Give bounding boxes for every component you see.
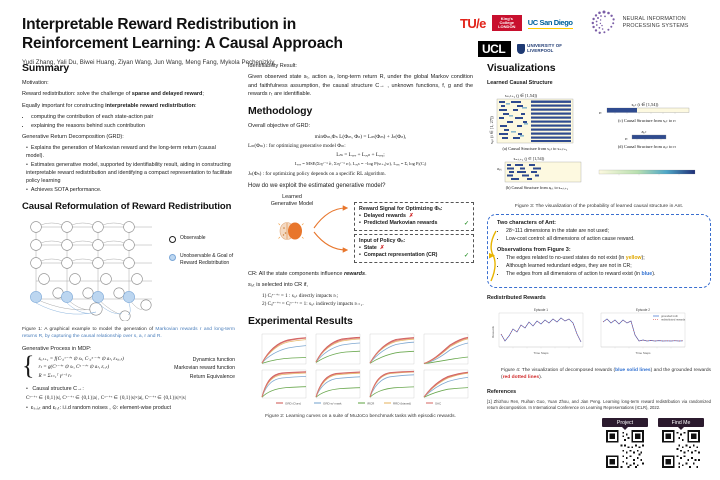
neurips-line-1: NEURAL INFORMATION	[623, 16, 686, 22]
bullet-dot: •	[359, 220, 361, 226]
equation-annotation: Return Equivalence	[190, 373, 235, 381]
svg-text:Episode 1: Episode 1	[534, 308, 548, 312]
cr-definition-line-1: CR: All the state components influence r…	[248, 270, 473, 278]
bullet-dot: •	[359, 213, 361, 219]
grd-bullets: Explains the generation of Markovian rew…	[22, 144, 235, 194]
legend-label: Observable	[180, 235, 206, 242]
structure-label: Causal structure C→:	[32, 386, 84, 392]
objective-equation: minΦₘ,Φₙ L(Φₘ, Φₙ) = Lₘ(Φₘ) + Jₙ(Φₙ),	[248, 134, 473, 140]
svg-text:Time Steps: Time Steps	[635, 351, 651, 355]
qr-project[interactable]: Project	[602, 418, 648, 468]
section-experiments-heading: Experimental Results	[248, 315, 473, 327]
learned-causal-structure-subheading: Learned Causal Structure	[487, 79, 711, 87]
liverpool-wordmark: UNIVERSITY OF LIVERPOOL	[527, 44, 562, 53]
figure-1-caption: Figure 1: A graphical example to model t…	[22, 326, 235, 340]
section-visualizations-heading: Visualizations	[487, 62, 711, 74]
svg-text:redistributed rewards: redistributed rewards	[661, 317, 686, 321]
identifiability-text: Given observed state sₜ, action aₜ, long…	[248, 73, 473, 98]
equation-annotation: Markovian reward function	[174, 364, 235, 372]
cross-icon: ✗	[409, 213, 414, 219]
ucsd-logo: UC San Diego	[528, 18, 573, 29]
motivation-line-1: Reward redistribution: solve the challen…	[22, 90, 235, 98]
mdp-equations: sᵢ,ₜ₊₁ = f(C·,ᵢˢ⁻⁺ˢ ⊙ sₜ, C·,ᵢᵃ⁻⁺ˢ ⊙ aₜ,…	[38, 356, 235, 380]
logo-bar: TU/e King's College LONDON UC San Diego	[460, 8, 710, 60]
svg-text:(d) Causal Structure from aᵢ,ₜ: (d) Causal Structure from aᵢ,ₜ to rₜ	[618, 144, 676, 150]
cr-condition-2: 2) Cᵢⱼˢ⁻⁺ˢ = Cⱼˢ⁻⁺ʳ = 1: sᵢ,ₜ indirectly…	[248, 301, 473, 307]
list-item: Low-cost control: all dimensions of acti…	[506, 236, 703, 244]
qr-findme[interactable]: Find Me	[658, 418, 704, 468]
policy-objective-label: Jₙ(Φₙ) : for optimizing policy depends o…	[248, 171, 473, 177]
lm-label: Lₘ(Φₘ) : for optimizing generative model…	[248, 143, 473, 149]
svg-text:Episode 2: Episode 2	[636, 308, 650, 312]
qr-project-code-icon[interactable]	[606, 430, 644, 468]
motivation-line-2-a: Equally important for constructing	[22, 103, 105, 109]
callout-list-2: The edges related to no-used states do n…	[497, 255, 703, 278]
list-item: Causal structure C→: Cˢ⁻⁺ʳ ∈ {0,1}|s|, C…	[26, 385, 235, 403]
reward-signal-box: Reward Signal for Optimizing Φₙ: • Delay…	[354, 202, 474, 232]
list-item: Explains the generation of Markovian rew…	[26, 144, 235, 160]
lm-equation-detail: Lᵣₑᵥ = MSE(Σₜγᵗ⁻¹ r̂ₜ, Σₜγᵗ⁻¹ rₜ), Lₔᵧₙ …	[248, 161, 473, 167]
lm-equation: Lₘ = Lᵣₑᵥ + Lₔᵧₙ + Lᵣₑᵧ;	[248, 152, 473, 158]
svg-text:RRD (biased): RRD (biased)	[393, 401, 411, 405]
neurips-swirl-icon	[589, 8, 619, 38]
check-icon: ✓	[464, 220, 469, 227]
flow-label-line-2: Generative Model	[271, 201, 314, 207]
logo-row-bottom: UCL UNIVERSITY OF LIVERPOOL	[460, 41, 710, 57]
svg-text:SAC: SAC	[435, 401, 442, 405]
grd-label: Generative Return Decomposition (GRD):	[22, 133, 235, 141]
svg-text:GRD (Ours): GRD (Ours)	[285, 401, 301, 405]
policy-input-title: Input of Policy Φₙ:	[359, 238, 469, 244]
section-methodology-heading: Methodology	[248, 105, 473, 117]
cr-condition-1: 1) Cᵢˢ⁻⁺ʳ = 1 : sᵢ,ₜ directly impacts rₜ…	[248, 293, 473, 299]
item-text-b: ).	[652, 271, 655, 277]
item-label: Predicted Markovian rewards	[364, 220, 438, 226]
column-middle: Identifiability Result: Given observed s…	[248, 62, 473, 420]
list-item: The edges from all dimensions of action …	[506, 271, 703, 279]
title-line-1: Interpretable Reward Redistribution in	[22, 16, 492, 35]
caption-part-c: ).	[539, 375, 542, 380]
methodology-flow-diagram: Learned Generative Model	[248, 194, 473, 268]
svg-text:s₌,ₜ₊₁ (j ∈ [1,54]): s₌,ₜ₊₁ (j ∈ [1,54])	[514, 156, 545, 162]
figure-2-caption: Figure 2: Learning curves on a suite of …	[248, 413, 473, 420]
svg-text:(a) Causal Structure from sᵢ,ₜ: (a) Causal Structure from sᵢ,ₜ to s₌,ₜ₊₁	[502, 146, 568, 152]
motivation-line-1-c: ;	[202, 91, 204, 97]
motivation-line-1-b: sparse and delayed reward	[132, 91, 203, 97]
motivation-line-2-c: :	[195, 103, 197, 109]
kcl-line-3: LONDON	[498, 24, 515, 29]
equation-text: rₜ = g(Cˢ⁻⁺ʳ ⊙ sₜ, Cᵃ⁻⁺ʳ ⊙ aₜ, εᵣ,ₜ)	[38, 364, 109, 372]
list-item: Achieves SOTA performance.	[26, 186, 235, 194]
figure-4-reward-curves: Episode 1 Rewards Time Steps Episode	[487, 306, 711, 364]
cr-text-a: CR: All the state components influence	[248, 271, 344, 277]
figure-2-learning-curves: GRD (Ours) GRD w/ mask IRCR RRD (biased)…	[248, 332, 473, 410]
list-item: 28~111 dimensions in the state are not u…	[506, 228, 703, 236]
swoosh-arrow-icon	[487, 229, 499, 285]
caption-red: red dotted lines	[503, 375, 539, 380]
motivation-line-1-a: Reward redistribution: solve the challen…	[22, 91, 132, 97]
item-text-a: The edges related to no-used states do n…	[506, 255, 626, 261]
item-highlight: yellow	[626, 255, 642, 261]
motivation-bullets: computing the contribution of each state…	[22, 113, 235, 130]
item-label: Compact representation (CR)	[364, 252, 438, 258]
equation-text: R = Σₜ₌₁ᵀ γᵗ⁻¹ rₜ	[38, 373, 71, 381]
logo-row-top: TU/e King's College LONDON UC San Diego	[460, 8, 710, 38]
list-item: computing the contribution of each state…	[31, 113, 235, 121]
list-item: The edges related to no-used states do n…	[506, 255, 703, 263]
policy-input-item: • State ✗	[359, 245, 469, 251]
policy-input-box: Input of Policy Φₙ: • State ✗ • Compact …	[354, 234, 474, 264]
flow-arrows-icon	[310, 198, 356, 264]
figure-4-caption: Figure 4: The visualization of decompose…	[487, 367, 711, 381]
qr-code-area: Project	[602, 418, 704, 468]
equation-row: rₜ = g(Cˢ⁻⁺ʳ ⊙ sₜ, Cᵃ⁻⁺ʳ ⊙ aₜ, εᵣ,ₜ) Mar…	[38, 364, 235, 372]
caption-highlight: Markovian rewards r	[155, 327, 201, 332]
left-brace-icon: {	[22, 356, 34, 380]
svg-text:sᵢ,ₜ (i ∈ [1, 27]): sᵢ,ₜ (i ∈ [1, 27])	[489, 116, 495, 144]
page-title: Interpretable Reward Redistribution in R…	[22, 16, 492, 54]
cr-text-highlight: rewards	[344, 271, 365, 277]
causal-graph-svg	[22, 217, 170, 321]
poster-header: Interpretable Reward Redistribution in R…	[22, 16, 492, 66]
column-left: Summary Motivation: Reward redistributio…	[22, 62, 235, 416]
observable-circle-icon	[169, 236, 176, 243]
structure-equation: Cˢ⁻⁺ʳ ∈ {0,1}|s|, Cᵃ⁻⁺ʳ ∈ {0,1}|a| , Cᵃ⁻…	[26, 395, 235, 403]
svg-text:aᵢ,ₜ: aᵢ,ₜ	[641, 129, 646, 135]
reward-curves-svg: Episode 1 Rewards Time Steps Episode	[487, 306, 697, 362]
heatmaps-svg: s₌,ₜ₊₁ (j ∈ [1,54]) sᵢ,ₜ (i ∈ [1, 27])	[487, 90, 711, 200]
liverpool-shield-icon	[517, 44, 525, 54]
list-item: Although learned redundant edges, they a…	[506, 263, 703, 271]
callout-title-2: Observations from Figure 3:	[497, 247, 703, 253]
item-text-a: The edges from all dimensions of action …	[506, 271, 642, 277]
learning-curves-svg: GRD (Ours) GRD w/ mask IRCR RRD (biased)…	[248, 332, 473, 410]
objective-label: Overall objective of GRD:	[248, 122, 473, 130]
svg-text:rₜ: rₜ	[599, 110, 602, 115]
svg-text:GRD w/ mask: GRD w/ mask	[323, 401, 342, 405]
figure-1-legend: Observable Unobservable & Goal of Reward…	[169, 235, 235, 277]
svg-text:(c) Causal Structure from sᵢ,ₜ: (c) Causal Structure from sᵢ,ₜ to rₜ	[618, 118, 676, 124]
list-item: explaining the reasons behind such contr…	[31, 122, 235, 130]
caption-part-c: , a, r and R.	[136, 334, 162, 339]
brain-icon	[278, 220, 304, 242]
neurips-logo: NEURAL INFORMATION PROCESSING SYSTEMS	[589, 8, 689, 38]
reference-entry-1: [1] Zhizhou Ren, Ruihan Guo, Yuan Zhou, …	[487, 399, 711, 411]
motivation-label: Motivation:	[22, 79, 235, 87]
svg-text:aᵢ,ₜ: aᵢ,ₜ	[497, 166, 502, 172]
item-text-b: );	[642, 255, 645, 261]
svg-text:(b) Causal Structure from aᵢ,ₜ: (b) Causal Structure from aᵢ,ₜ to s₌,ₜ₊₁	[506, 185, 569, 191]
section-summary-heading: Summary	[22, 62, 235, 74]
section-causal-heading: Causal Reformulation of Reward Redistrib…	[22, 201, 235, 212]
reward-signal-item: • Predicted Markovian rewards ✓	[359, 220, 469, 227]
svg-text:sᵢ,ₜ (i ∈ [1,54]): sᵢ,ₜ (i ∈ [1,54])	[632, 102, 659, 108]
liverpool-line-2: LIVERPOOL	[527, 48, 553, 53]
figure-3-caption: Figure 3: The visualization of the proba…	[487, 203, 711, 210]
item-label: Delayed rewards	[364, 213, 406, 219]
item-highlight: blue	[642, 271, 653, 277]
motivation-line-2: Equally important for constructing inter…	[22, 102, 235, 110]
bullet-dot: •	[359, 245, 361, 251]
qr-findme-code-icon[interactable]	[662, 430, 700, 468]
cr-text-c: .	[365, 271, 367, 277]
qr-findme-label: Find Me	[658, 418, 704, 427]
figure-1-causal-graph: Observable Unobservable & Goal of Reward…	[22, 217, 235, 323]
caption-part-a: Figure 1: A graphical example to model t…	[22, 327, 155, 332]
references-heading: References	[487, 388, 711, 396]
legend-item-unobservable: Unobservable & Goal of Reward Redistribu…	[169, 253, 235, 267]
svg-text:Time Steps: Time Steps	[533, 351, 549, 355]
caption-part-a: Figure 4: The visualization of decompose…	[501, 368, 615, 373]
mdp-label: Generative Process in MDP:	[22, 345, 235, 353]
identifiability-label: Identifiability Result:	[248, 62, 473, 70]
svg-text:Rewards: Rewards	[491, 325, 495, 337]
causal-structure-bullets: Causal structure C→: Cˢ⁻⁺ʳ ∈ {0,1}|s|, C…	[22, 385, 235, 413]
unobservable-circle-icon	[169, 254, 176, 261]
column-right: Visualizations Learned Causal Structure …	[487, 62, 711, 411]
reward-signal-item: • Delayed rewards ✗	[359, 213, 469, 219]
callout-list-1: 28~111 dimensions in the state are not u…	[497, 228, 703, 244]
motivation-line-2-b: interpretable reward redistribution	[105, 103, 195, 109]
svg-text:s₌,ₜ₊₁ (j ∈ [1,54]): s₌,ₜ₊₁ (j ∈ [1,54])	[505, 93, 538, 99]
caption-blue: blue solid lines	[615, 368, 651, 373]
reward-signal-title: Reward Signal for Optimizing Φₙ:	[359, 206, 469, 212]
redistributed-rewards-heading: Redistributed Rewards	[487, 294, 711, 302]
neurips-line-2: PROCESSING SYSTEMS	[623, 23, 689, 29]
legend-item-observable: Observable	[169, 235, 235, 243]
kcl-logo: King's College LONDON	[492, 15, 522, 32]
figure-3-heatmaps: s₌,ₜ₊₁ (j ∈ [1,54]) sᵢ,ₜ (i ∈ [1, 27])	[487, 90, 711, 202]
svg-text:rₜ: rₜ	[625, 136, 628, 141]
observations-callout: Two characters of Ant: 28~111 dimensions…	[487, 214, 711, 288]
exploit-question: How do we exploit the estimated generati…	[248, 182, 473, 191]
legend-label: Unobservable & Goal of Reward Redistribu…	[180, 253, 235, 267]
ucl-logo: UCL	[478, 41, 511, 57]
cr-definition-line-2: sᵢ,ₜ is selected into CR if,	[248, 281, 473, 289]
equation-annotation: Dynamics function	[193, 356, 235, 364]
list-item: Estimates generative model, supported by…	[26, 161, 235, 185]
policy-input-item: • Compact representation (CR) ✓	[359, 252, 469, 259]
liverpool-logo: UNIVERSITY OF LIVERPOOL	[517, 44, 562, 54]
neurips-wordmark: NEURAL INFORMATION PROCESSING SYSTEMS	[623, 16, 689, 30]
list-item: εₛ,ᵢ,ₜ and εᵣ,ₜ: i.i.d random noises , ⊙…	[26, 404, 235, 412]
bullet-dot: •	[359, 252, 361, 258]
equation-row: R = Σₜ₌₁ᵀ γᵗ⁻¹ rₜ Return Equivalence	[38, 373, 235, 381]
qr-project-label: Project	[602, 418, 648, 427]
poster-root: Interpretable Reward Redistribution in R…	[0, 0, 720, 480]
svg-text:IRCR: IRCR	[367, 401, 375, 405]
mdp-equation-block: { sᵢ,ₜ₊₁ = f(C·,ᵢˢ⁻⁺ˢ ⊙ sₜ, C·,ᵢᵃ⁻⁺ˢ ⊙ a…	[22, 356, 235, 380]
svg-text:grounded truth: grounded truth	[661, 314, 678, 318]
tue-logo: TU/e	[460, 16, 486, 31]
flow-label-line-1: Learned	[282, 194, 302, 200]
callout-title-1: Two characters of Ant:	[497, 220, 703, 226]
title-line-2: Reinforcement Learning: A Causal Approac…	[22, 35, 492, 54]
item-label: State	[364, 245, 377, 251]
check-icon: ✓	[464, 252, 469, 259]
cross-icon: ✗	[380, 245, 385, 251]
